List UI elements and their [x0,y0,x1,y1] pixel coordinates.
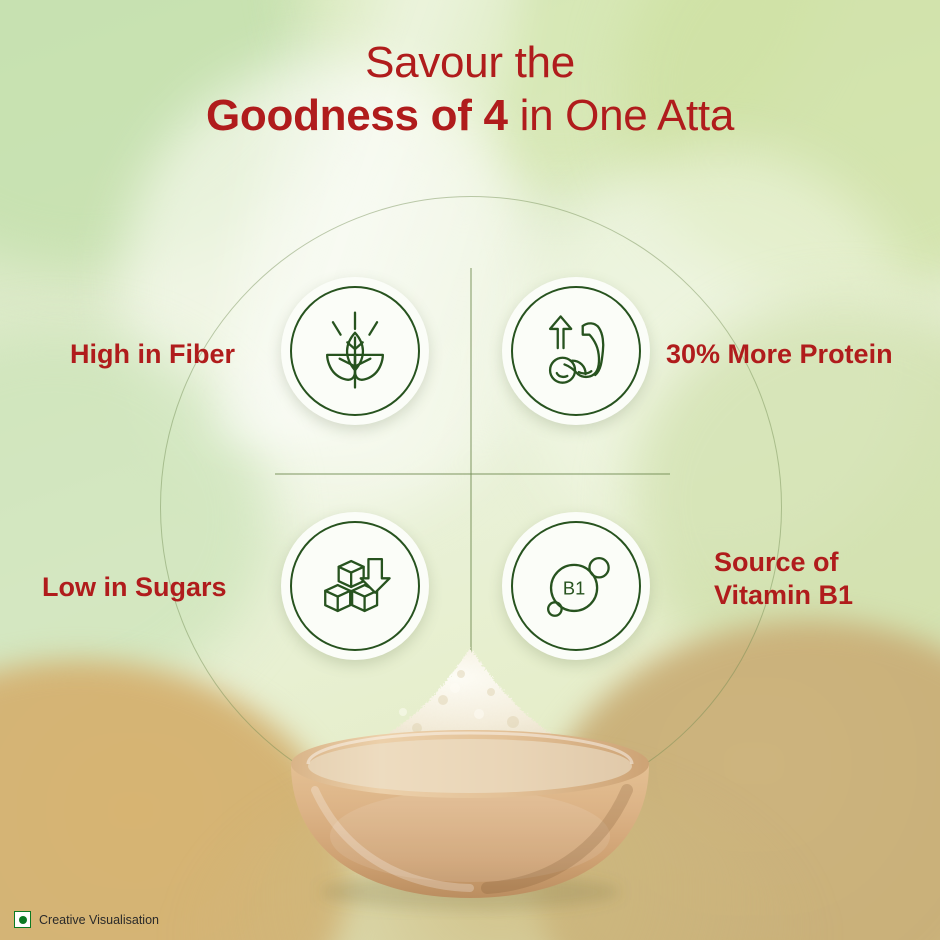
molecule-b1-icon: B1 [528,538,624,634]
vegetarian-mark-icon [14,911,31,928]
headline-line-1: Savour the [0,38,940,87]
feature-badge-sugar [281,512,429,660]
headline-emphasis: Goodness of 4 [206,91,508,140]
molecule-label: B1 [563,578,585,599]
flexing-bicep-arrow-up-icon [528,303,624,399]
promo-poster: Savour the Goodness of 4 in One Atta [0,0,940,940]
feature-label-protein: 30% More Protein [666,338,893,371]
sugar-cubes-arrow-down-icon [307,538,403,634]
vegetarian-dot [19,916,27,924]
feature-badge-protein [502,277,650,425]
quadrant-divider-vertical [470,268,472,668]
headline-line-2: Goodness of 4 in One Atta [0,91,940,140]
headline: Savour the Goodness of 4 in One Atta [0,38,940,141]
footer-disclaimer: Creative Visualisation [14,911,159,928]
quadrant-divider-horizontal [275,473,670,475]
feature-label-fiber: High in Fiber [70,338,235,371]
feature-label-vitamin: Source of Vitamin B1 [714,546,853,613]
bowl-illustration [255,640,685,920]
feature-badge-vitamin: B1 [502,512,650,660]
plant-leaves-icon [307,303,403,399]
feature-label-sugar: Low in Sugars [42,571,227,604]
headline-line-2-rest: in One Atta [508,91,734,140]
feature-badge-fiber [281,277,429,425]
footer-text: Creative Visualisation [39,913,159,927]
bowl-of-atta-flour [255,640,685,920]
